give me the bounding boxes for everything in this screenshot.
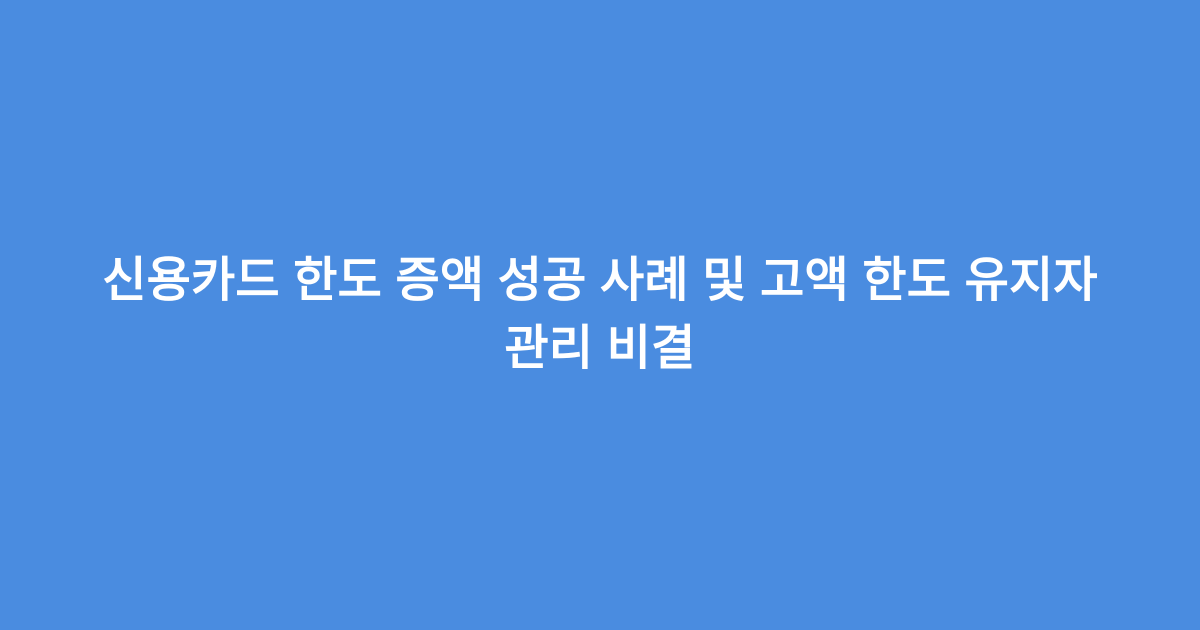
open-graph-card: 신용카드 한도 증액 성공 사례 및 고액 한도 유지자 관리 비결 [0,0,1200,630]
title-block: 신용카드 한도 증액 성공 사례 및 고액 한도 유지자 관리 비결 [64,247,1136,383]
page-title: 신용카드 한도 증액 성공 사례 및 고액 한도 유지자 관리 비결 [64,247,1136,383]
